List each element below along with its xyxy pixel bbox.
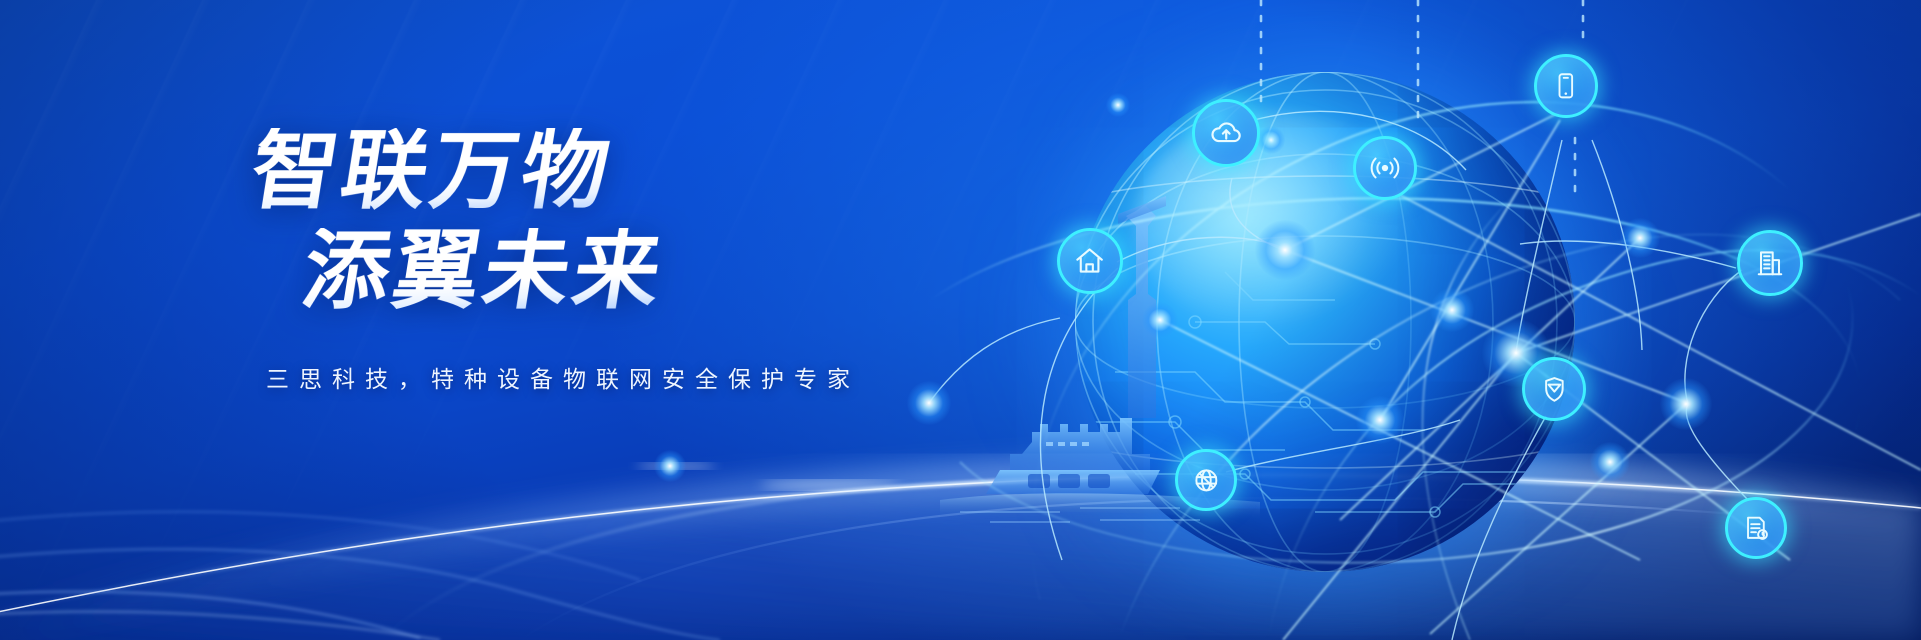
network-spark	[1257, 126, 1285, 154]
cloud-upload-icon	[1195, 102, 1257, 164]
node-smartphone[interactable]	[1534, 54, 1598, 118]
node-globe-net[interactable]	[1175, 449, 1237, 511]
network-spark	[1590, 442, 1630, 482]
network-spark	[1356, 396, 1404, 444]
network-spark	[1660, 378, 1712, 430]
shield-icon	[1525, 360, 1583, 418]
globe-network-icon	[1178, 452, 1234, 508]
headline-line-2: 添翼未来	[297, 228, 1019, 314]
document-settings-icon	[1728, 500, 1784, 556]
smartphone-icon	[1537, 57, 1595, 115]
node-signal[interactable]	[1353, 136, 1417, 200]
hero-banner: 智联万物 添翼未来 三思科技，特种设备物联网安全保护专家	[0, 0, 1921, 640]
network-spark	[654, 450, 686, 482]
network-spark	[1255, 220, 1315, 280]
home-icon	[1060, 231, 1120, 291]
node-shield[interactable]	[1522, 357, 1586, 421]
network-spark	[1620, 218, 1660, 258]
signal-wifi-icon	[1356, 139, 1414, 197]
node-document[interactable]	[1725, 497, 1787, 559]
banner-subtitle: 三思科技，特种设备物联网安全保护专家	[266, 360, 1012, 394]
node-home[interactable]	[1057, 228, 1123, 294]
node-building[interactable]	[1737, 230, 1803, 296]
network-spark	[1106, 93, 1130, 117]
headline-line-1: 智联万物	[245, 128, 1019, 214]
network-spark	[1430, 288, 1474, 332]
node-cloud-upload[interactable]	[1192, 99, 1260, 167]
network-spark	[1142, 302, 1178, 338]
building-icon	[1740, 233, 1800, 293]
headline-block: 智联万物 添翼未来 三思科技，特种设备物联网安全保护专家	[252, 128, 1012, 394]
